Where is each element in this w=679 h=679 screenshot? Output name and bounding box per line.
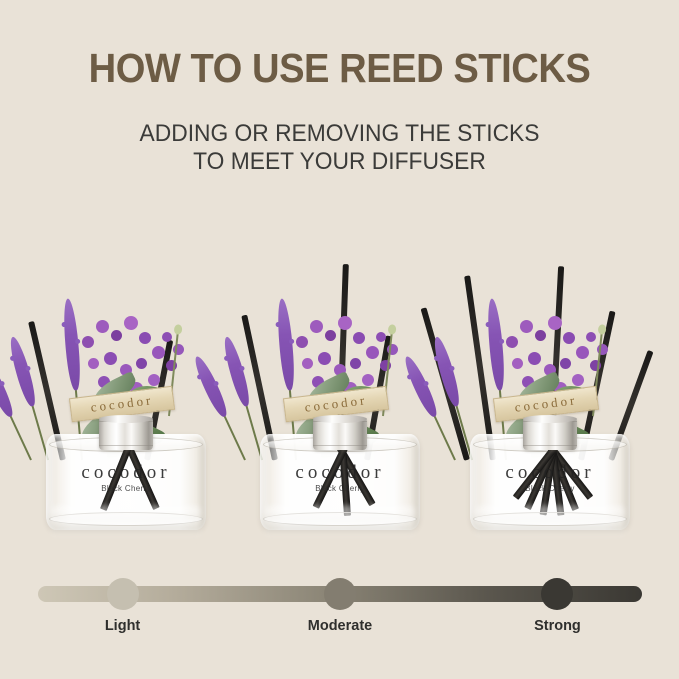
bottle-cap-top bbox=[313, 415, 367, 423]
diffuser-bottle: cocodor Black Cherry bbox=[260, 418, 420, 538]
slider-knob-moderate[interactable]: Moderate bbox=[324, 578, 356, 610]
bottle-reflection bbox=[51, 506, 201, 540]
page-title: HOW TO USE REED STICKS bbox=[24, 48, 655, 89]
slider-label-strong: Strong bbox=[534, 618, 581, 634]
brand-tag-label: cocodor bbox=[514, 392, 578, 416]
bottle-reflection bbox=[475, 506, 625, 540]
diffuser-bottle: cocodor Black Cherry bbox=[470, 418, 630, 538]
slider-knob-light[interactable]: Light bbox=[107, 578, 139, 610]
page-subtitle: ADDING OR REMOVING THE STICKS TO MEET YO… bbox=[17, 120, 662, 176]
infographic-canvas: HOW TO USE REED STICKS ADDING OR REMOVIN… bbox=[0, 0, 679, 679]
bottle-reflection bbox=[265, 506, 415, 540]
lavender-sprig bbox=[436, 333, 472, 460]
slider-label-light: Light bbox=[105, 618, 140, 634]
lavender-sprig bbox=[226, 333, 262, 460]
subtitle-line-2: TO MEET YOUR DIFFUSER bbox=[17, 148, 662, 176]
brand-tag-label: cocodor bbox=[304, 392, 368, 416]
slider-label-moderate: Moderate bbox=[308, 618, 372, 634]
bottle-cap-top bbox=[99, 415, 153, 423]
bottle-cap-top bbox=[523, 415, 577, 423]
diffuser-row: cocodor cocodor Black Cherry bbox=[0, 196, 679, 556]
lavender-sprig bbox=[12, 333, 48, 460]
subtitle-line-1: ADDING OR REMOVING THE STICKS bbox=[17, 120, 662, 148]
diffuser-strong: cocodor cocodor Black Cherry bbox=[450, 196, 650, 556]
brand-tag-label: cocodor bbox=[90, 392, 154, 416]
diffuser-bottle: cocodor Black Cherry bbox=[46, 418, 206, 538]
intensity-slider[interactable]: Light Moderate Strong bbox=[38, 586, 642, 602]
slider-knob-strong[interactable]: Strong bbox=[541, 578, 573, 610]
